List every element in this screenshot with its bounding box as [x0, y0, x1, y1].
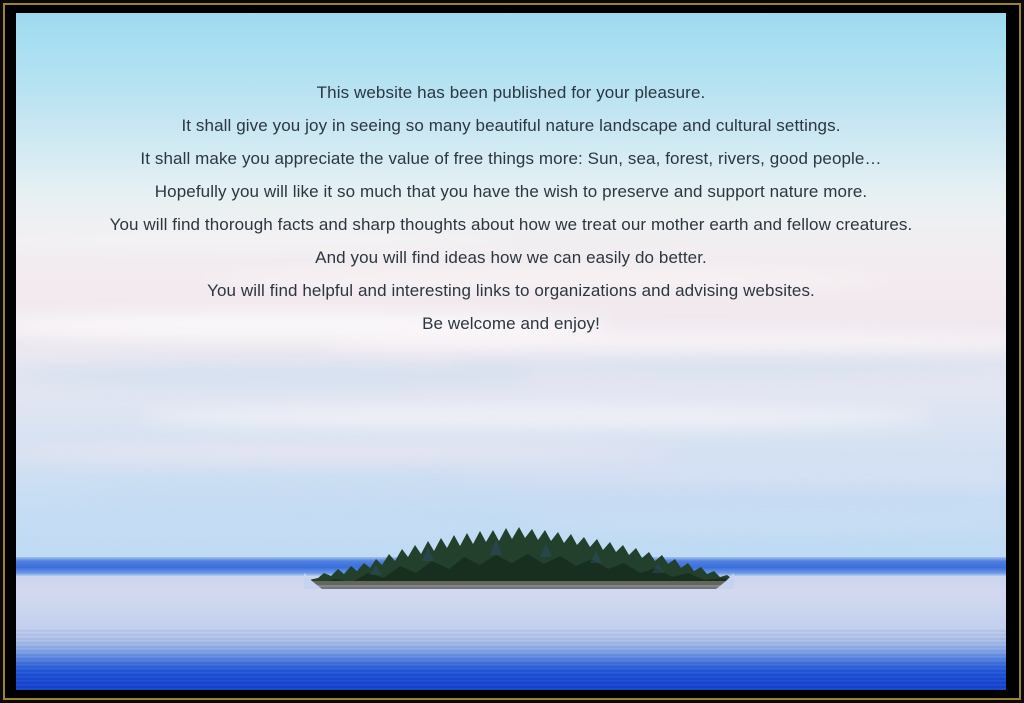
foreground-water — [16, 628, 1006, 690]
picture-frame: This website has been published for your… — [0, 0, 1024, 703]
island-shoreline-lower — [304, 585, 734, 589]
scenery-photo: This website has been published for your… — [16, 13, 1006, 690]
sky-gradient — [16, 13, 1006, 563]
island — [304, 521, 734, 589]
